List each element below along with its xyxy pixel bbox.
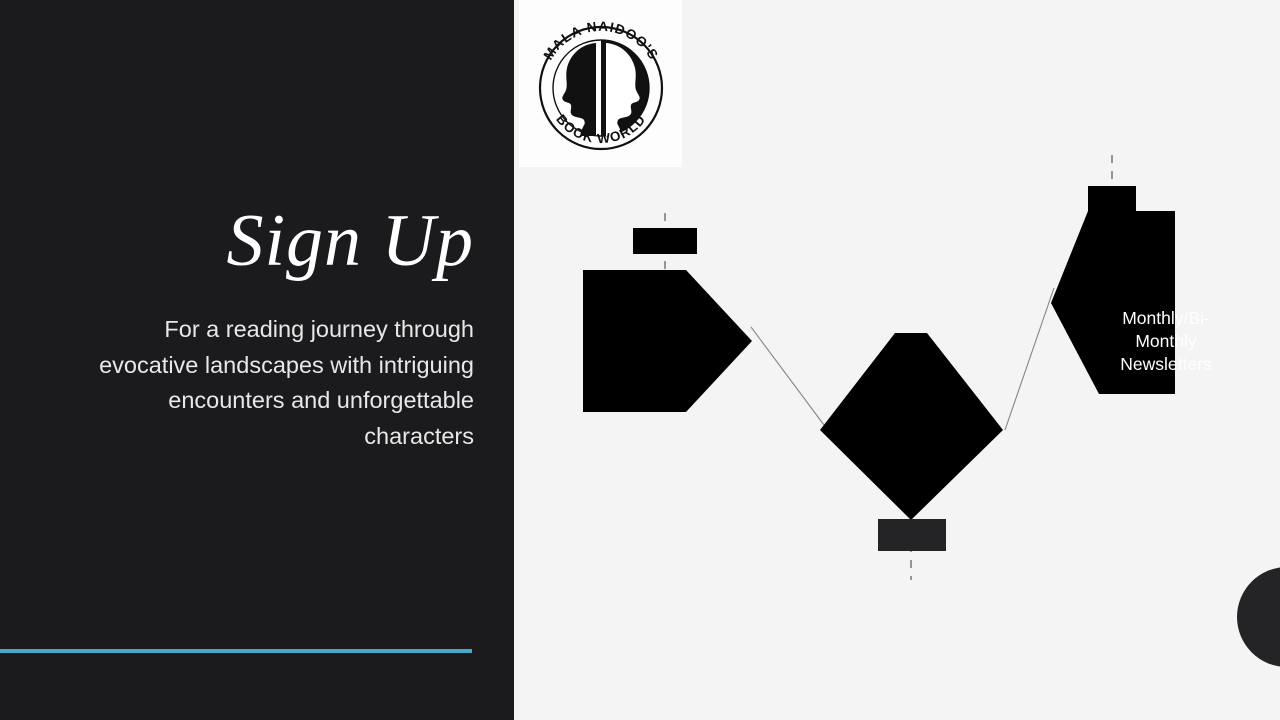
node-cap-free-stories — [878, 519, 946, 551]
page-title: Sign Up — [0, 204, 474, 278]
node-cap-newsletters — [633, 228, 697, 254]
node-shape-blog[interactable] — [1051, 211, 1175, 394]
left-content-panel: Sign Up For a reading journey through ev… — [0, 0, 514, 720]
accent-divider-line — [0, 649, 472, 653]
connector-newsletters-to-stories — [751, 327, 824, 425]
presentation-slide: Sign Up For a reading journey through ev… — [0, 0, 1280, 720]
node-cap-blog — [1088, 186, 1136, 212]
flow-diagram: Monthly/Bi-Monthly Newsletters Free Stor… — [514, 0, 1280, 720]
connector-stories-to-blog — [1005, 288, 1054, 430]
node-shape-free-stories[interactable] — [820, 333, 1003, 520]
node-shape-newsletters[interactable] — [583, 270, 752, 412]
slide-body-text: For a reading journey through evocative … — [96, 312, 474, 454]
